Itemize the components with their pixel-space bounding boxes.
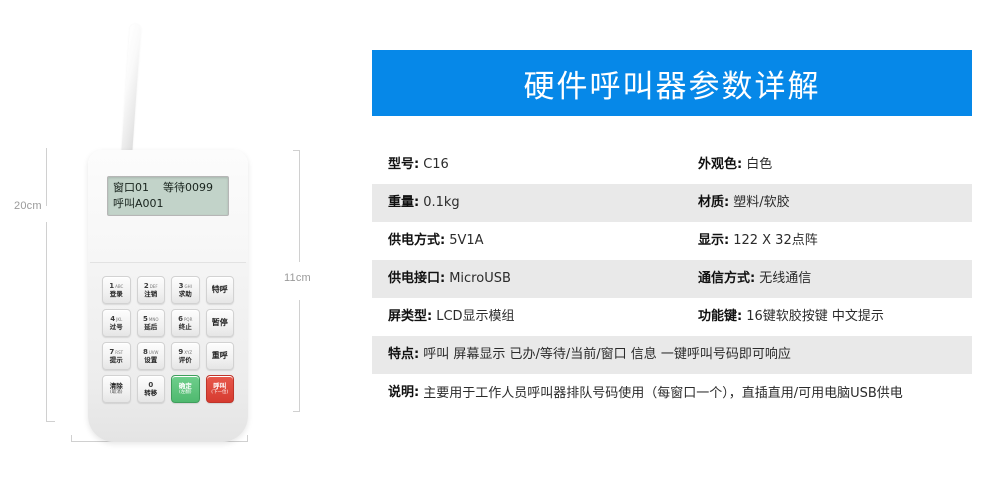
- spec-right-1: 材质:塑料/软胶: [698, 184, 956, 212]
- key-number-row: 7RST: [109, 349, 123, 356]
- key-label: 提示: [110, 356, 123, 364]
- key-letters: DEF: [150, 283, 158, 290]
- key-sublabel: (左翻): [179, 390, 192, 396]
- key-number: 7: [109, 349, 114, 356]
- key-letters: GHI: [185, 283, 192, 290]
- key-呼叫[interactable]: 呼叫(下一位): [206, 375, 235, 403]
- spec-left-1-key: 重量:: [388, 193, 419, 212]
- spec-left-2: 供电方式:5V1A: [388, 222, 698, 250]
- spec-row: 供电方式:5V1A显示:122 X 32点阵: [372, 222, 972, 260]
- key-number-row: 3GHI: [179, 283, 192, 290]
- key-2[interactable]: 2DEF注销: [137, 276, 166, 304]
- spec-right-2: 显示:122 X 32点阵: [698, 222, 956, 250]
- key-number: 6: [178, 316, 183, 323]
- key-number: 3: [179, 283, 184, 290]
- spec-right-0-key: 外观色:: [698, 155, 742, 174]
- key-number-row: 2DEF: [144, 283, 158, 290]
- key-label: 注销: [144, 290, 157, 298]
- key-label: 过号: [110, 323, 123, 331]
- spec-row: 屏类型:LCD显示模组功能键:16键软胶按键 中文提示: [372, 298, 972, 336]
- key-label: 确定: [179, 382, 192, 390]
- key-letters: UVW: [149, 349, 159, 356]
- spec-left-3-key: 供电接口:: [388, 269, 445, 288]
- spec-right-1-value: 塑料/软胶: [733, 193, 789, 212]
- spec-note: 说明:主要用于工作人员呼叫器排队号码使用（每窗口一个），直插直用/可用电脑USB…: [388, 374, 956, 404]
- specification-panel: 硬件呼叫器参数详解 型号:C16外观色:白色重量:0.1kg材质:塑料/软胶供电…: [372, 0, 972, 492]
- spec-feature-key: 特点:: [388, 345, 419, 364]
- key-3[interactable]: 3GHI求助: [171, 276, 200, 304]
- spec-row-feature: 特点:呼叫 屏幕显示 已办/等待/当前/窗口 信息 一键呼叫号码即可响应: [372, 336, 972, 374]
- key-letters: MNO: [149, 316, 159, 323]
- key-label: 转移: [144, 389, 157, 397]
- key-6[interactable]: 6PQR终止: [171, 309, 200, 337]
- spec-feature-value: 呼叫 屏幕显示 已办/等待/当前/窗口 信息 一键呼叫号码即可响应: [423, 345, 791, 364]
- spec-row: 型号:C16外观色:白色: [372, 146, 972, 184]
- specification-table: 型号:C16外观色:白色重量:0.1kg材质:塑料/软胶供电方式:5V1A显示:…: [372, 146, 972, 430]
- page-title: 硬件呼叫器参数详解: [524, 61, 821, 106]
- key-9[interactable]: 9XYZ评价: [171, 342, 200, 370]
- key-1[interactable]: 1ABC登录: [102, 276, 131, 304]
- spec-row: 重量:0.1kg材质:塑料/软胶: [372, 184, 972, 222]
- key-number: 0: [148, 382, 153, 389]
- key-letters: PQR: [184, 316, 192, 323]
- key-重呼[interactable]: 重呼: [206, 342, 235, 370]
- spec-right-1-key: 材质:: [698, 193, 729, 212]
- spec-left-4-value: LCD显示模组: [436, 307, 514, 326]
- spec-right-3: 通信方式:无线通信: [698, 260, 956, 288]
- key-0[interactable]: 0转移: [137, 375, 166, 403]
- key-number: 2: [144, 283, 149, 290]
- depth-dimension-tick-bottom: [293, 411, 300, 412]
- spec-right-0-value: 白色: [746, 155, 772, 174]
- height-dimension-line-upper: [46, 148, 47, 206]
- product-image-panel: 20cm 11cm 8cm 窗口01 等待0099 呼叫A001 1ABC登录2…: [0, 0, 352, 492]
- spec-right-4-value: 16键软胶按键 中文提示: [746, 307, 884, 326]
- key-number-row: 9XYZ: [178, 349, 192, 356]
- spec-feature: 特点:呼叫 屏幕显示 已办/等待/当前/窗口 信息 一键呼叫号码即可响应: [388, 336, 956, 364]
- key-label: 登录: [110, 290, 123, 298]
- key-label: 评价: [179, 356, 192, 364]
- key-8[interactable]: 8UVW设置: [137, 342, 166, 370]
- key-number-row: 4JKL: [110, 316, 122, 323]
- key-label: 呼叫: [213, 382, 226, 390]
- key-4[interactable]: 4JKL过号: [102, 309, 131, 337]
- lcd-display: 窗口01 等待0099 呼叫A001: [107, 176, 229, 216]
- spec-right-2-key: 显示:: [698, 231, 729, 250]
- height-dimension-tick: [46, 421, 55, 422]
- product-spec-page: 20cm 11cm 8cm 窗口01 等待0099 呼叫A001 1ABC登录2…: [0, 0, 1000, 492]
- spec-left-3-value: MicroUSB: [449, 269, 511, 288]
- lcd-line-2: 呼叫A001: [113, 196, 223, 212]
- spec-left-4: 屏类型:LCD显示模组: [388, 298, 698, 326]
- spec-left-0-value: C16: [423, 155, 449, 174]
- key-number: 5: [143, 316, 148, 323]
- keypad: 1ABC登录2DEF注销3GHI求助特呼4JKL过号5MNO延后6PQR终止暂停…: [102, 276, 234, 403]
- key-sublabel: (取消): [110, 390, 123, 396]
- spec-left-2-key: 供电方式:: [388, 231, 445, 250]
- spec-right-2-value: 122 X 32点阵: [733, 231, 818, 250]
- key-暂停[interactable]: 暂停: [206, 309, 235, 337]
- spec-note-key: 说明:: [388, 383, 419, 402]
- spec-right-3-key: 通信方式:: [698, 269, 755, 288]
- key-number-row: 1ABC: [109, 283, 123, 290]
- lcd-line-1: 窗口01 等待0099: [113, 180, 223, 196]
- key-label: 暂停: [212, 319, 228, 327]
- key-5[interactable]: 5MNO延后: [137, 309, 166, 337]
- key-label: 延后: [144, 323, 157, 331]
- key-number-row: 5MNO: [143, 316, 158, 323]
- spec-right-3-value: 无线通信: [759, 269, 811, 288]
- key-label: 特呼: [212, 286, 228, 294]
- spec-left-1: 重量:0.1kg: [388, 184, 698, 212]
- key-number: 9: [178, 349, 183, 356]
- key-label: 终止: [179, 323, 192, 331]
- spec-row: 供电接口:MicroUSB通信方式:无线通信: [372, 260, 972, 298]
- spec-left-0-key: 型号:: [388, 155, 419, 174]
- key-清除[interactable]: 清除(取消): [102, 375, 131, 403]
- spec-row-note: 说明:主要用于工作人员呼叫器排队号码使用（每窗口一个），直插直用/可用电脑USB…: [372, 374, 972, 430]
- key-确定[interactable]: 确定(左翻): [171, 375, 200, 403]
- key-number-row: 0: [148, 382, 153, 389]
- key-sublabel: (下一位): [211, 390, 228, 396]
- depth-dimension-label: 11cm: [284, 272, 311, 284]
- height-dimension-line-lower: [46, 222, 47, 422]
- key-letters: RST: [115, 349, 123, 356]
- spec-right-4: 功能键:16键软胶按键 中文提示: [698, 298, 956, 326]
- spec-left-0: 型号:C16: [388, 146, 698, 174]
- key-label: 清除: [110, 382, 123, 390]
- width-dimension-tick-left: [71, 435, 72, 442]
- spec-left-4-key: 屏类型:: [388, 307, 432, 326]
- title-banner: 硬件呼叫器参数详解: [372, 50, 972, 116]
- spec-left-1-value: 0.1kg: [423, 193, 459, 212]
- spec-right-0: 外观色:白色: [698, 146, 956, 174]
- height-dimension-label: 20cm: [14, 200, 42, 212]
- depth-dimension-line-upper: [299, 150, 300, 262]
- depth-dimension-line-lower: [299, 300, 300, 412]
- spec-left-3: 供电接口:MicroUSB: [388, 260, 698, 288]
- key-letters: ABC: [115, 283, 123, 290]
- caller-device: 窗口01 等待0099 呼叫A001 1ABC登录2DEF注销3GHI求助特呼4…: [88, 150, 248, 442]
- device-seam: [90, 262, 246, 263]
- depth-dimension-tick-top: [293, 150, 300, 151]
- key-letters: JKL: [116, 316, 122, 323]
- width-dimension-tick-right: [247, 435, 248, 442]
- key-label: 求助: [179, 290, 192, 298]
- spec-left-2-value: 5V1A: [449, 231, 483, 250]
- key-number-row: 6PQR: [178, 316, 192, 323]
- key-number-row: 8UVW: [143, 349, 159, 356]
- spec-right-4-key: 功能键:: [698, 307, 742, 326]
- key-number: 1: [109, 283, 114, 290]
- key-letters: XYZ: [184, 349, 192, 356]
- key-label: 设置: [144, 356, 157, 364]
- key-特呼[interactable]: 特呼: [206, 276, 235, 304]
- key-label: 重呼: [212, 352, 228, 360]
- key-number: 4: [110, 316, 115, 323]
- key-7[interactable]: 7RST提示: [102, 342, 131, 370]
- antenna: [121, 24, 141, 156]
- key-number: 8: [143, 349, 148, 356]
- spec-note-value: 主要用于工作人员呼叫器排队号码使用（每窗口一个），直插直用/可用电脑USB供电: [423, 383, 903, 404]
